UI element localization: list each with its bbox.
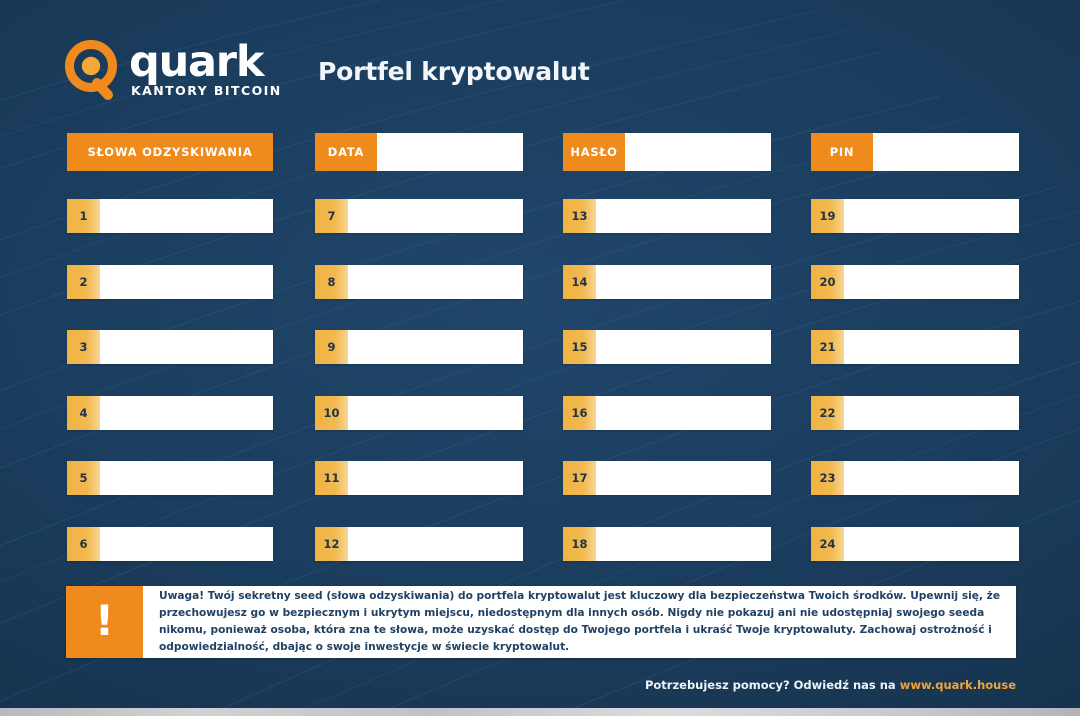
seed-row-input[interactable] <box>596 461 771 495</box>
column-header-2: HASŁO <box>563 133 771 171</box>
seed-row-input[interactable] <box>348 330 523 364</box>
seed-row-number: 23 <box>811 461 844 495</box>
wordmark-block: quark KANTORY BITCOIN <box>129 40 282 98</box>
seed-row-input[interactable] <box>844 396 1019 430</box>
column-header-3: PIN <box>811 133 1019 171</box>
seed-row-input[interactable] <box>348 199 523 233</box>
seed-row-number: 7 <box>315 199 348 233</box>
page-header: quark KANTORY BITCOIN Portfel kryptowalu… <box>0 0 1080 125</box>
seed-row: 1 <box>67 199 273 233</box>
seed-row-number: 19 <box>811 199 844 233</box>
seed-row: 15 <box>563 330 771 364</box>
seed-row: 3 <box>67 330 273 364</box>
column-header-0: SŁOWA ODZYSKIWANIA <box>67 133 273 171</box>
seed-row: 19 <box>811 199 1019 233</box>
seed-row-number: 13 <box>563 199 596 233</box>
column-header-field-3[interactable] <box>873 133 1019 171</box>
column-header-label-0: SŁOWA ODZYSKIWANIA <box>67 133 273 171</box>
seed-row-input[interactable] <box>100 461 273 495</box>
seed-row: 2 <box>67 265 273 299</box>
seed-row-number: 9 <box>315 330 348 364</box>
seed-row-number: 20 <box>811 265 844 299</box>
brand-wordmark: quark <box>129 40 282 84</box>
footer-help-text: Potrzebujesz pomocy? Odwiedź nas na <box>645 678 900 692</box>
seed-row: 5 <box>67 461 273 495</box>
seed-row-number: 14 <box>563 265 596 299</box>
seed-row-input[interactable] <box>348 265 523 299</box>
quark-q-magnifier-icon <box>64 39 126 103</box>
seed-row-number: 4 <box>67 396 100 430</box>
seed-row-number: 6 <box>67 527 100 561</box>
seed-row-input[interactable] <box>844 199 1019 233</box>
seed-row-number: 1 <box>67 199 100 233</box>
seed-row-input[interactable] <box>844 461 1019 495</box>
seed-row: 22 <box>811 396 1019 430</box>
column-header-label-2: HASŁO <box>563 133 625 171</box>
seed-row-input[interactable] <box>596 527 771 561</box>
seed-row-number: 24 <box>811 527 844 561</box>
seed-row: 6 <box>67 527 273 561</box>
seed-row: 12 <box>315 527 523 561</box>
seed-row: 24 <box>811 527 1019 561</box>
seed-row: 16 <box>563 396 771 430</box>
seed-row: 9 <box>315 330 523 364</box>
footer-help: Potrzebujesz pomocy? Odwiedź nas na www.… <box>645 678 1016 692</box>
seed-row-input[interactable] <box>348 527 523 561</box>
seed-row: 23 <box>811 461 1019 495</box>
security-warning-body: Uwaga! Twój sekretny seed (słowa odzyski… <box>143 586 1016 658</box>
page-title: Portfel kryptowalut <box>318 57 590 86</box>
seed-row-input[interactable] <box>100 199 273 233</box>
seed-row-number: 15 <box>563 330 596 364</box>
column-header-1: DATA <box>315 133 523 171</box>
seed-row: 13 <box>563 199 771 233</box>
seed-row-number: 22 <box>811 396 844 430</box>
security-warning-text: Uwaga! Twój sekretny seed (słowa odzyski… <box>159 588 1002 657</box>
seed-row: 10 <box>315 396 523 430</box>
seed-row-number: 16 <box>563 396 596 430</box>
seed-row-number: 3 <box>67 330 100 364</box>
seed-row-input[interactable] <box>596 265 771 299</box>
seed-row-input[interactable] <box>596 396 771 430</box>
seed-row: 8 <box>315 265 523 299</box>
seed-row-number: 2 <box>67 265 100 299</box>
seed-row: 17 <box>563 461 771 495</box>
seed-row-number: 8 <box>315 265 348 299</box>
seed-row-input[interactable] <box>100 330 273 364</box>
column-header-label-1: DATA <box>315 133 377 171</box>
brand-logo: quark KANTORY BITCOIN <box>64 40 282 103</box>
exclamation-mark-icon: ! <box>66 586 143 658</box>
column-header-label-3: PIN <box>811 133 873 171</box>
seed-row-input[interactable] <box>596 330 771 364</box>
seed-row-input[interactable] <box>844 330 1019 364</box>
seed-row-number: 21 <box>811 330 844 364</box>
seed-row-input[interactable] <box>348 461 523 495</box>
seed-row-number: 12 <box>315 527 348 561</box>
seed-row: 18 <box>563 527 771 561</box>
bottom-edge-strip <box>0 708 1080 716</box>
column-header-field-2[interactable] <box>625 133 771 171</box>
seed-row-input[interactable] <box>844 527 1019 561</box>
security-warning-box: ! Uwaga! Twój sekretny seed (słowa odzys… <box>66 586 1016 658</box>
seed-row-number: 11 <box>315 461 348 495</box>
seed-row-number: 17 <box>563 461 596 495</box>
seed-row: 11 <box>315 461 523 495</box>
seed-row-input[interactable] <box>844 265 1019 299</box>
seed-row-number: 5 <box>67 461 100 495</box>
seed-row-input[interactable] <box>100 265 273 299</box>
brand-tagline: KANTORY BITCOIN <box>129 83 282 98</box>
seed-row-number: 18 <box>563 527 596 561</box>
seed-row: 7 <box>315 199 523 233</box>
seed-row: 4 <box>67 396 273 430</box>
column-header-field-1[interactable] <box>377 133 523 171</box>
seed-row-input[interactable] <box>100 527 273 561</box>
seed-row-number: 10 <box>315 396 348 430</box>
seed-row-input[interactable] <box>596 199 771 233</box>
seed-row-input[interactable] <box>348 396 523 430</box>
seed-row-input[interactable] <box>100 396 273 430</box>
seed-row: 21 <box>811 330 1019 364</box>
seed-row: 20 <box>811 265 1019 299</box>
footer-website-link[interactable]: www.quark.house <box>900 678 1016 692</box>
seed-row: 14 <box>563 265 771 299</box>
